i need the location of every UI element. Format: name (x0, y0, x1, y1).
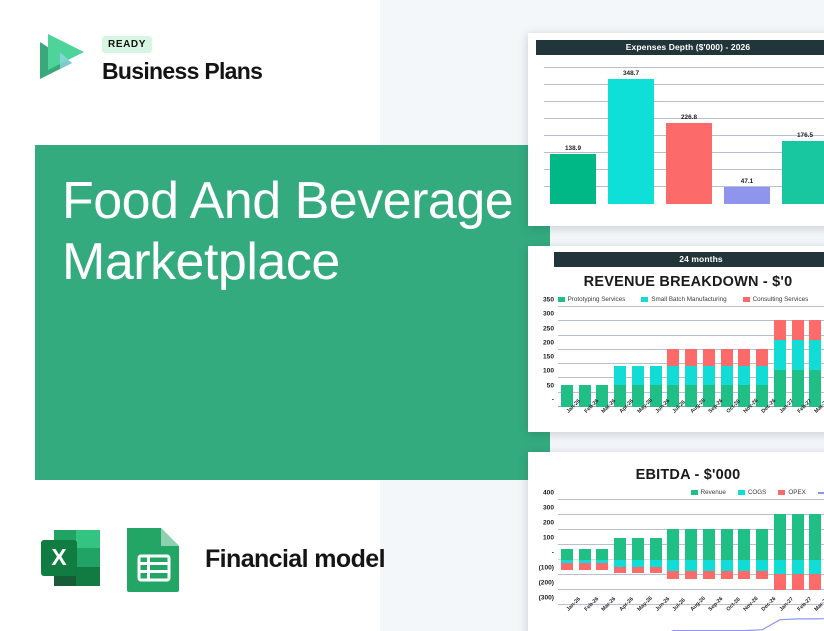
legend-item: Consulting Services (743, 296, 809, 303)
x-axis-slot: Jan-26 (558, 407, 576, 432)
opex-bar (721, 571, 733, 579)
bar-group: 138.9348.7226.847.1176.5 (544, 68, 824, 204)
revenue-chart-legend: Prototyping ServicesSmall Batch Manufact… (528, 296, 824, 303)
bar-slot (629, 307, 647, 407)
legend-swatch (691, 490, 698, 495)
legend-label: COGS (748, 489, 767, 496)
y-axis-tick: 300 (543, 311, 554, 318)
legend-swatch (778, 490, 785, 495)
revenue-bar (632, 538, 644, 560)
ebitda-chart-legend: RevenueCOGSOPEX0 (528, 489, 824, 496)
bar-slot (771, 307, 789, 407)
x-axis-slot: May-26 (629, 605, 647, 631)
stacked-bar (809, 320, 821, 407)
legend-swatch (818, 492, 824, 494)
cogs-bar (756, 560, 768, 571)
cogs-bar (667, 560, 679, 571)
stacked-bar (721, 349, 733, 407)
y-axis-tick: 400 (543, 490, 554, 497)
x-axis-slot: Feb-27 (789, 407, 807, 432)
revenue-bar (667, 529, 679, 560)
cogs-bar (650, 560, 662, 567)
ebitda-column (632, 500, 644, 605)
bar-slot (682, 307, 700, 407)
bar-slot (807, 500, 824, 605)
stack-segment (756, 349, 768, 366)
bar-slot (576, 307, 594, 407)
x-axis-slot: Feb-26 (576, 407, 594, 432)
legend-label: Consulting Services (753, 296, 809, 303)
opex-bar (579, 563, 591, 570)
stacked-bar (756, 349, 768, 407)
bar (550, 154, 596, 204)
bar-slot (718, 307, 736, 407)
ebitda-column (596, 500, 608, 605)
bar (782, 141, 824, 204)
legend-label: Revenue (701, 489, 726, 496)
stacked-bar (667, 349, 679, 407)
legend-item: Small Batch Manufacturing (641, 296, 726, 303)
bar-slot (665, 500, 683, 605)
x-axis-labels: Jan-26Feb-26Mar-26Apr-26May-26Jun-26Jul-… (558, 605, 824, 631)
stack-segment (774, 340, 786, 370)
bar-slot (753, 500, 771, 605)
revenue-bar (774, 514, 786, 560)
bar-slot (594, 500, 612, 605)
x-axis-slot: Jan-27 (771, 605, 789, 631)
opex-bar (667, 571, 679, 579)
brand-name: Business Plans (102, 58, 262, 85)
ebitda-column (774, 500, 786, 605)
x-axis-slot: Apr-26 (611, 407, 629, 432)
legend-swatch (641, 297, 648, 302)
y-axis-tick: 350 (543, 297, 554, 304)
stacked-bar (685, 349, 697, 407)
revenue-chart-title: REVENUE BREAKDOWN - $'0 (528, 274, 824, 290)
stack-segment (738, 366, 750, 386)
opex-bar (738, 571, 750, 579)
bar-value-label: 176.5 (776, 132, 824, 139)
bar-slot (611, 500, 629, 605)
expenses-chart-banner: Expenses Depth ($'000) - 2026 (536, 40, 824, 55)
bar-slot (736, 307, 754, 407)
stack-segment (650, 366, 662, 386)
cogs-bar (792, 560, 804, 574)
ebitda-column (685, 500, 697, 605)
legend-item: COGS (738, 489, 767, 496)
ebitda-column (650, 500, 662, 605)
bar-slot (718, 500, 736, 605)
ebitda-column (738, 500, 750, 605)
stack-segment (756, 366, 768, 386)
bar-value-label: 47.1 (718, 178, 776, 185)
bar-value-label: 348.7 (602, 70, 660, 77)
x-axis-slot: Dec-26 (753, 407, 771, 432)
ebitda-column (792, 500, 804, 605)
stack-segment (703, 366, 715, 386)
bar-slot (700, 500, 718, 605)
bar-value-label: 138.9 (544, 145, 602, 152)
stack-segment (774, 320, 786, 341)
opex-bar (774, 574, 786, 590)
opex-bar (632, 567, 644, 573)
y-axis-tick: 250 (543, 325, 554, 332)
legend-label: Small Batch Manufacturing (651, 296, 726, 303)
bar (608, 79, 654, 204)
bar (666, 123, 712, 204)
bar-slot: 138.9 (544, 68, 602, 204)
stack-segment (667, 349, 679, 366)
ebitda-column (579, 500, 591, 605)
bar-slot (753, 307, 771, 407)
stack-segment (738, 349, 750, 366)
stack-segment (792, 340, 804, 370)
opex-bar (561, 563, 573, 570)
x-axis-slot: Mar-27 (807, 605, 824, 631)
bar-slot (682, 500, 700, 605)
stack-segment (703, 349, 715, 366)
revenue-bar (614, 538, 626, 560)
stack-segment (721, 349, 733, 366)
y-axis-tick: 100 (543, 368, 554, 375)
bar-value-label: 226.8 (660, 114, 718, 121)
revenue-bar (579, 549, 591, 560)
x-axis-slot: Aug-26 (682, 605, 700, 631)
stack-segment (809, 320, 821, 341)
x-axis-slot: Nov-26 (736, 605, 754, 631)
brand-text: READY Business Plans (102, 26, 262, 85)
revenue-bar (685, 529, 697, 560)
bar-slot (594, 307, 612, 407)
expenses-chart-plot: 138.9348.7226.847.1176.5 (544, 68, 824, 204)
x-axis-slot: Mar-26 (594, 407, 612, 432)
stacked-bar (703, 349, 715, 407)
bar-slot (807, 307, 824, 407)
stack-segment (667, 366, 679, 386)
x-axis-slot: Jul-26 (665, 407, 683, 432)
hero-panel: Food And Beverage Marketplace (35, 145, 550, 480)
stack-segment (792, 320, 804, 341)
opex-bar (685, 571, 697, 579)
footer-block: X Financial model (33, 520, 385, 598)
bar-slot (558, 307, 576, 407)
legend-item: OPEX (778, 489, 806, 496)
excel-icon[interactable]: X (33, 520, 111, 598)
opex-bar (650, 567, 662, 573)
x-axis-labels: Jan-26Feb-26Mar-26Apr-26May-26Jun-26Jul-… (558, 407, 824, 432)
footer-label: Financial model (205, 545, 385, 574)
y-axis-tick: (300) (539, 595, 554, 602)
bar-slot: 176.5 (776, 68, 824, 204)
x-axis-slot: May-26 (629, 407, 647, 432)
chart-card-revenue[interactable]: 24 months REVENUE BREAKDOWN - $'0 Protot… (528, 246, 824, 432)
legend-swatch (558, 297, 565, 302)
y-axis-tick: 200 (543, 520, 554, 527)
revenue-bar (703, 529, 715, 560)
ebitda-column (614, 500, 626, 605)
bar-slot (771, 500, 789, 605)
ebitda-column (756, 500, 768, 605)
ebitda-chart-title: EBITDA - $'000 (528, 467, 824, 483)
bar-slot (700, 307, 718, 407)
bar-slot (736, 500, 754, 605)
bar (724, 187, 770, 204)
opex-bar (756, 571, 768, 579)
stacked-bar (774, 320, 786, 407)
x-axis-slot: Jun-26 (647, 407, 665, 432)
bar-slot (789, 500, 807, 605)
ebitda-column (721, 500, 733, 605)
bar-slot (665, 307, 683, 407)
x-axis-slot: Feb-26 (576, 605, 594, 631)
bar-group (558, 500, 824, 605)
bar-slot: 348.7 (602, 68, 660, 204)
stack-segment (614, 366, 626, 386)
revenue-bar (596, 549, 608, 560)
cogs-bar (809, 560, 821, 574)
stack-segment (632, 366, 644, 386)
y-axis-tick: - (552, 397, 554, 404)
ready-badge: READY (102, 36, 152, 53)
slide-root: READY Business Plans Food And Beverage M… (0, 0, 824, 631)
x-axis-slot: Jun-26 (647, 605, 665, 631)
bar-slot (647, 307, 665, 407)
x-axis-slot: Mar-26 (594, 605, 612, 631)
x-axis-slot: Jan-27 (771, 407, 789, 432)
ebitda-column (667, 500, 679, 605)
page-title: Food And Beverage Marketplace (62, 171, 522, 293)
cogs-bar (685, 560, 697, 571)
legend-label: Prototyping Services (568, 296, 626, 303)
bar-slot (789, 307, 807, 407)
revenue-bar (809, 514, 821, 560)
revenue-bar (721, 529, 733, 560)
x-axis-slot: Dec-26 (753, 605, 771, 631)
google-sheets-icon[interactable] (119, 520, 187, 598)
bar-slot (558, 500, 576, 605)
cogs-bar (774, 560, 786, 574)
x-axis-slot: Nov-26 (736, 407, 754, 432)
bar-slot (611, 307, 629, 407)
x-axis-slot: Jul-26 (665, 605, 683, 631)
y-axis-tick: (100) (539, 565, 554, 572)
revenue-bar (561, 549, 573, 560)
bar-group (558, 307, 824, 407)
y-axis-tick: 50 (547, 382, 554, 389)
x-axis-slot: Jan-26 (558, 605, 576, 631)
play-logo-icon (28, 26, 90, 88)
chart-card-ebitda[interactable]: EBITDA - $'000 RevenueCOGSOPEX0 40030020… (528, 452, 824, 631)
opex-bar (703, 571, 715, 579)
y-axis-tick: - (552, 550, 554, 557)
bar-slot (647, 500, 665, 605)
x-axis-slot: Mar-27 (807, 407, 824, 432)
x-axis-slot: Apr-26 (611, 605, 629, 631)
y-axis-tick: 150 (543, 354, 554, 361)
legend-swatch (738, 490, 745, 495)
y-axis-tick: (200) (539, 580, 554, 587)
x-axis-slot: Oct-26 (718, 407, 736, 432)
chart-card-expenses[interactable]: Expenses Depth ($'000) - 2026 138.9348.7… (528, 33, 824, 226)
stack-segment (809, 340, 821, 370)
revenue-bar (650, 538, 662, 560)
cogs-bar (703, 560, 715, 571)
bar-slot: 47.1 (718, 68, 776, 204)
x-axis-slot: Sep-26 (700, 407, 718, 432)
revenue-bar (738, 529, 750, 560)
stacked-bar (738, 349, 750, 407)
opex-bar (792, 574, 804, 590)
legend-item: 0 (818, 489, 824, 496)
ebitda-column (561, 500, 573, 605)
stack-segment (685, 349, 697, 366)
opex-bar (809, 574, 821, 590)
cogs-bar (721, 560, 733, 571)
x-axis-slot: Oct-26 (718, 605, 736, 631)
opex-bar (596, 563, 608, 570)
legend-swatch (743, 297, 750, 302)
x-axis-slot: Sep-26 (700, 605, 718, 631)
y-axis-tick: 300 (543, 505, 554, 512)
cogs-bar (632, 560, 644, 567)
ebitda-chart-plot: 400300200100-(100)(200)(300)Jan-26Feb-26… (558, 500, 824, 605)
ebitda-column (703, 500, 715, 605)
revenue-bar (756, 529, 768, 560)
legend-label: OPEX (788, 489, 806, 496)
bar-slot (629, 500, 647, 605)
svg-text:X: X (51, 544, 67, 570)
brand-block: READY Business Plans (28, 26, 262, 88)
revenue-chart-plot: 35030025020015010050-Jan-26Feb-26Mar-26A… (558, 307, 824, 407)
legend-item: Revenue (691, 489, 726, 496)
revenue-bar (792, 514, 804, 560)
ebitda-column (809, 500, 821, 605)
x-axis-slot: Feb-27 (789, 605, 807, 631)
y-axis-tick: 100 (543, 535, 554, 542)
y-axis-tick: 200 (543, 339, 554, 346)
x-axis-slot: Aug-26 (682, 407, 700, 432)
stack-segment (685, 366, 697, 386)
legend-item: Prototyping Services (558, 296, 626, 303)
cogs-bar (614, 560, 626, 567)
revenue-chart-banner: 24 months (554, 252, 824, 267)
stack-segment (721, 366, 733, 386)
bar-slot: 226.8 (660, 68, 718, 204)
bar-slot (576, 500, 594, 605)
stacked-bar (792, 320, 804, 407)
opex-bar (614, 567, 626, 573)
cogs-bar (738, 560, 750, 571)
